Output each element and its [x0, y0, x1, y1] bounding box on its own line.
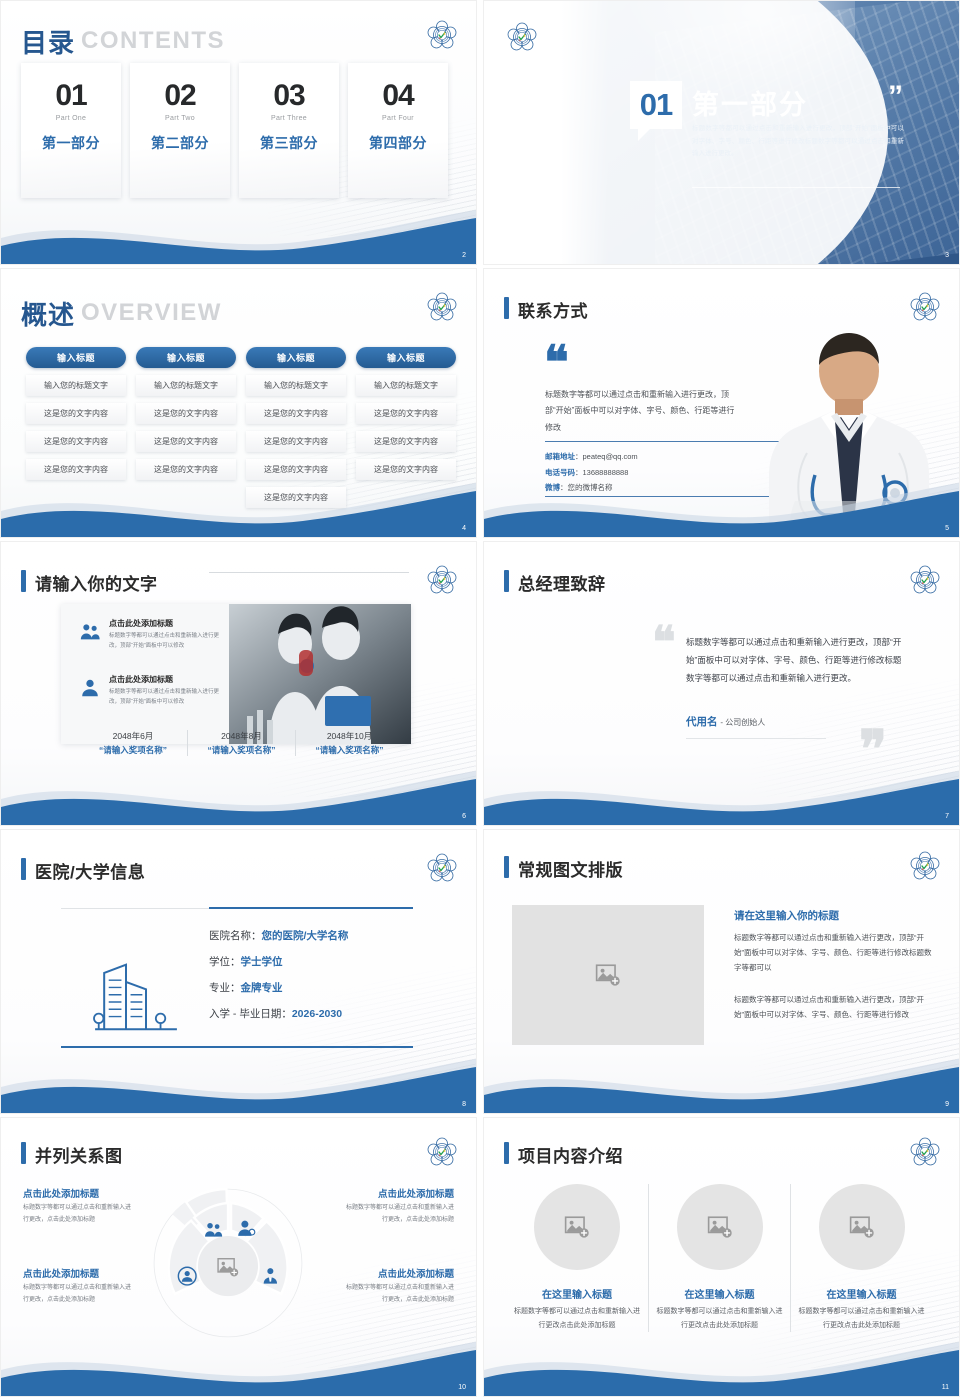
- card-number: 02: [164, 81, 195, 111]
- card-title: 第四部分: [369, 133, 427, 153]
- overview-cell[interactable]: 这是您的文字内容: [356, 459, 456, 480]
- building-illustration: [86, 942, 186, 1042]
- column-heading: 在这里输入标题: [512, 1286, 642, 1301]
- school-emblem-logo: [909, 1136, 941, 1168]
- award-name: “请输入奖项名称”: [82, 744, 184, 756]
- school-emblem-logo: [426, 564, 458, 596]
- info-value: 2026-2030: [292, 1008, 342, 1020]
- card-title: 第二部分: [151, 133, 209, 153]
- quote-open-icon: ❝: [652, 628, 676, 659]
- slide-text-with-photo[interactable]: 请输入你的文字: [0, 541, 477, 826]
- contact-label: 邮箱地址: [545, 452, 575, 461]
- card-part-label: Part One: [56, 115, 86, 122]
- speech-body-text: 标题数字等都可以通过点击和重新输入进行更改，顶部“开始”面板中可以对字体、字号、…: [686, 634, 904, 688]
- column-heading: 在这里输入标题: [655, 1286, 784, 1301]
- contents-card[interactable]: 03 Part Three 第三部分: [239, 63, 339, 198]
- info-value: 金牌专业: [241, 982, 283, 994]
- page-number: 7: [945, 813, 949, 820]
- content-paragraph: 标题数字等都可以通过点击和重新输入进行更改，顶部“开始”面板中可以对字体、字号、…: [734, 992, 934, 1022]
- info-row: 学位：学士学位: [209, 954, 348, 969]
- slide-hospital-info[interactable]: 医院/大学信息 医院名称：您的医院/大学名称 学位：学士学位 专业：金牌专业 入…: [0, 829, 477, 1114]
- award-date: 2048年8月: [191, 730, 292, 742]
- overview-cell[interactable]: 输入您的标题文字: [136, 375, 236, 396]
- contact-value: 您的微博名称: [568, 483, 613, 492]
- content-paragraph: 标题数字等都可以通过点击和重新输入进行更改，顶部“开始”面板中可以对字体、字号、…: [734, 930, 934, 975]
- school-emblem-logo: [426, 19, 458, 51]
- title-accent-bar: [21, 570, 26, 592]
- slide-image-text[interactable]: 常规图文排版 请在这里输入你的标题 标题数字等都可以通过点击和重新输入进行更改，…: [483, 829, 960, 1114]
- card-title: 第一部分: [42, 133, 100, 153]
- group-people-icon: [79, 621, 101, 643]
- contact-row-email[interactable]: 邮箱地址：peateq@qq.com: [545, 451, 638, 462]
- overview-cell[interactable]: 这是您的文字内容: [26, 459, 126, 480]
- feature-item[interactable]: 点击此处添加标题 标题数字等都可以通过点击和重新输入进行更改，顶部“开始”面板中…: [79, 674, 229, 708]
- title-accent-bar: [21, 1142, 26, 1164]
- header-rule: [209, 572, 409, 573]
- divider: [686, 738, 826, 739]
- page-number: 3: [945, 252, 949, 259]
- doctor-portrait-photo: [737, 325, 957, 537]
- page-title: 项目内容介绍: [518, 1142, 623, 1167]
- info-value: 学士学位: [241, 956, 283, 968]
- info-row: 入学 - 毕业日期：2026-2030: [209, 1006, 348, 1021]
- slide-overview[interactable]: 概述 OVERVIEW 输入标题 输入您的标题文字 这是您的文字内容 这是您的文…: [0, 268, 477, 538]
- school-emblem-logo: [426, 1136, 458, 1168]
- donut-diagram[interactable]: [151, 1186, 305, 1340]
- page-number: 6: [462, 813, 466, 820]
- column-header-pill[interactable]: 输入标题: [246, 347, 346, 368]
- award-item[interactable]: 2048年8月 “请输入奖项名称”: [187, 730, 295, 756]
- image-placeholder-icon: [564, 1215, 590, 1239]
- info-row: 专业：金牌专业: [209, 980, 348, 995]
- page-number: 8: [462, 1101, 466, 1108]
- page-title: 联系方式: [518, 297, 588, 322]
- overview-column: 输入标题 输入您的标题文字 这是您的文字内容 这是您的文字内容 这是您的文字内容: [136, 347, 236, 508]
- overview-cell[interactable]: 这是您的文字内容: [246, 487, 346, 508]
- title-accent-bar: [504, 1142, 509, 1164]
- school-emblem-logo: [909, 564, 941, 596]
- page-title: 请输入你的文字: [35, 570, 158, 595]
- project-columns: 在这里输入标题 标题数字等都可以通过点击和重新输入进行更改点击此处添加标题 在这…: [506, 1184, 932, 1332]
- contents-card[interactable]: 02 Part Two 第二部分: [130, 63, 230, 198]
- diagram-block-top-left: 点击此处添加标题 标题数字等都可以通过点击和重新输入进行更改，点击此处添加标题: [23, 1186, 131, 1226]
- signature-name: 代用名 - 公司创始人: [686, 714, 765, 729]
- card-part-label: Part Two: [165, 115, 195, 122]
- title-accent-bar: [504, 570, 509, 592]
- page-number: 4: [462, 525, 466, 532]
- image-placeholder[interactable]: [512, 905, 704, 1045]
- slide-manager-speech[interactable]: 总经理致辞 ❝ 标题数字等都可以通过点击和重新输入进行更改，顶部“开始”面板中可…: [483, 541, 960, 826]
- title-accent-bar: [21, 858, 26, 880]
- top-divider-accent: [209, 907, 413, 909]
- overview-column: 输入标题 输入您的标题文字 这是您的文字内容 这是您的文字内容 这是您的文字内容: [26, 347, 126, 508]
- page-title: 目录: [21, 23, 75, 60]
- image-placeholder[interactable]: [534, 1184, 620, 1270]
- slide-deck-grid: 目录 CONTENTS 01 Part One 第一部分 02 Part Two…: [0, 0, 960, 1400]
- contact-value: peateq@qq.com: [583, 452, 638, 461]
- school-emblem-logo: [506, 21, 538, 53]
- page-number: 5: [945, 525, 949, 532]
- page-title: 并列关系图: [35, 1142, 123, 1167]
- contact-list: 邮箱地址：peateq@qq.com 电话号码：13688888888 微博：您…: [545, 451, 638, 498]
- divider: [692, 187, 900, 188]
- feature-heading: 点击此处添加标题: [109, 618, 229, 629]
- overview-cell[interactable]: 这是您的文字内容: [246, 403, 346, 424]
- award-name: “请输入奖项名称”: [191, 744, 292, 756]
- page-title: 总经理致辞: [518, 570, 606, 595]
- overview-cell[interactable]: 这是您的文字内容: [136, 403, 236, 424]
- award-date: 2048年10月: [299, 730, 400, 742]
- image-placeholder-icon: [849, 1215, 875, 1239]
- page-title-en: OVERVIEW: [81, 299, 222, 327]
- contact-row-weibo[interactable]: 微博：您的微博名称: [545, 482, 638, 493]
- block-body: 标题数字等都可以通过点击和重新输入进行更改，点击此处添加标题: [23, 1283, 131, 1306]
- image-placeholder-icon: [595, 963, 621, 987]
- overview-columns: 输入标题 输入您的标题文字 这是您的文字内容 这是您的文字内容 这是您的文字内容…: [26, 347, 456, 508]
- award-item[interactable]: 2048年6月 “请输入奖项名称”: [79, 730, 187, 756]
- award-date: 2048年6月: [82, 730, 184, 742]
- contents-card-row: 01 Part One 第一部分 02 Part Two 第二部分 03 Par…: [21, 63, 448, 198]
- signature-name-text: 代用名: [686, 716, 718, 728]
- title-accent-bar: [504, 856, 509, 878]
- content-headline: 请在这里输入你的标题: [734, 908, 839, 923]
- block-heading: 点击此处添加标题: [23, 1186, 131, 1200]
- page-number: 10: [458, 1384, 466, 1391]
- section-number-badge: 01: [630, 81, 682, 129]
- column-header-pill[interactable]: 输入标题: [26, 347, 126, 368]
- slide-contact[interactable]: 联系方式 ❝ 标题数字等都可以通过点击和重新输入进行更改，顶部“开始”面板中可以…: [483, 268, 960, 538]
- page-title: 常规图文排版: [518, 856, 623, 881]
- page-number: 11: [942, 1384, 949, 1391]
- image-placeholder-icon: [707, 1215, 733, 1239]
- overview-cell[interactable]: 这是您的文字内容: [356, 403, 456, 424]
- overview-cell[interactable]: 这是您的文字内容: [246, 431, 346, 452]
- block-body: 标题数字等都可以通过点击和重新输入进行更改，点击此处添加标题: [346, 1203, 454, 1226]
- overview-cell[interactable]: 这是您的文字内容: [246, 459, 346, 480]
- award-item[interactable]: 2048年10月 “请输入奖项名称”: [295, 730, 403, 756]
- overview-cell[interactable]: 输入您的标题文字: [26, 375, 126, 396]
- contents-card[interactable]: 01 Part One 第一部分: [21, 63, 121, 198]
- overview-cell[interactable]: 这是您的文字内容: [136, 431, 236, 452]
- page-number: 9: [945, 1101, 949, 1108]
- school-emblem-logo: [426, 291, 458, 323]
- card-number: 04: [382, 81, 413, 111]
- info-label: 专业：: [209, 982, 241, 994]
- quote-mark-icon: ”: [888, 85, 903, 109]
- info-value: 您的医院/大学名称: [262, 930, 349, 942]
- contact-value: 13688888888: [583, 468, 629, 477]
- page-number: 2: [462, 252, 466, 259]
- feature-item[interactable]: 点击此处添加标题 标题数字等都可以通过点击和重新输入进行更改，顶部“开始”面板中…: [79, 618, 229, 652]
- overview-column: 输入标题 输入您的标题文字 这是您的文字内容 这是您的文字内容 这是您的文字内容…: [246, 347, 346, 508]
- page-title-en: CONTENTS: [81, 27, 225, 55]
- card-title: 第三部分: [260, 133, 318, 153]
- overview-cell[interactable]: 这是您的文字内容: [26, 403, 126, 424]
- contact-label: 微博: [545, 483, 560, 492]
- card-number: 03: [273, 81, 304, 111]
- award-name: “请输入奖项名称”: [299, 744, 400, 756]
- feature-body: 标题数字等都可以通过点击和重新输入进行更改，顶部“开始”面板中可以修改: [109, 687, 229, 708]
- content-panel: 点击此处添加标题 标题数字等都可以通过点击和重新输入进行更改，顶部“开始”面板中…: [61, 604, 411, 744]
- card-part-label: Part Four: [382, 115, 414, 122]
- info-rows: 医院名称：您的医院/大学名称 学位：学士学位 专业：金牌专业 入学 - 毕业日期…: [209, 928, 348, 1032]
- block-heading: 点击此处添加标题: [346, 1266, 454, 1280]
- column-body: 标题数字等都可以通过点击和重新输入进行更改点击此处添加标题: [655, 1305, 784, 1332]
- school-emblem-logo: [909, 291, 941, 323]
- signature-role: - 公司创始人: [720, 718, 765, 727]
- diagram-block-bottom-right: 点击此处添加标题 标题数字等都可以通过点击和重新输入进行更改，点击此处添加标题: [346, 1266, 454, 1306]
- project-column[interactable]: 在这里输入标题 标题数字等都可以通过点击和重新输入进行更改点击此处添加标题: [648, 1184, 790, 1332]
- contents-card[interactable]: 04 Part Four 第四部分: [348, 63, 448, 198]
- single-person-icon: [79, 677, 101, 699]
- card-number: 01: [55, 81, 86, 111]
- section-number: 01: [640, 87, 672, 123]
- awards-row: 2048年6月 “请输入奖项名称” 2048年8月 “请输入奖项名称” 2048…: [79, 730, 403, 756]
- feature-heading: 点击此处添加标题: [109, 674, 229, 685]
- school-emblem-logo: [426, 852, 458, 884]
- diagram-block-top-right: 点击此处添加标题 标题数字等都可以通过点击和重新输入进行更改，点击此处添加标题: [346, 1186, 454, 1226]
- column-header-pill[interactable]: 输入标题: [356, 347, 456, 368]
- project-column[interactable]: 在这里输入标题 标题数字等都可以通过点击和重新输入进行更改点击此处添加标题: [506, 1184, 648, 1332]
- overview-cell[interactable]: 输入您的标题文字: [356, 375, 456, 396]
- slide-project-content[interactable]: 项目内容介绍 在这里输入标题 标题数字等都可以通过点击和重新输入进行更改点击此处…: [483, 1117, 960, 1397]
- block-heading: 点击此处添加标题: [346, 1186, 454, 1200]
- project-column[interactable]: 在这里输入标题 标题数字等都可以通过点击和重新输入进行更改点击此处添加标题: [790, 1184, 932, 1332]
- info-label: 医院名称：: [209, 930, 262, 942]
- page-title: 医院/大学信息: [35, 858, 145, 883]
- bottom-divider: [61, 1046, 413, 1048]
- quote-close-icon: ❞: [859, 733, 887, 769]
- slide-contents[interactable]: 目录 CONTENTS 01 Part One 第一部分 02 Part Two…: [0, 0, 477, 265]
- info-label: 学位：: [209, 956, 241, 968]
- column-header-pill[interactable]: 输入标题: [136, 347, 236, 368]
- image-placeholder[interactable]: [677, 1184, 763, 1270]
- image-placeholder[interactable]: [819, 1184, 905, 1270]
- info-row: 医院名称：您的医院/大学名称: [209, 928, 348, 943]
- block-heading: 点击此处添加标题: [23, 1266, 131, 1280]
- contact-body-text: 标题数字等都可以通过点击和重新输入进行更改，顶部“开始”面板中可以对字体、字号、…: [545, 387, 742, 436]
- overview-cell[interactable]: 这是您的文字内容: [26, 431, 126, 452]
- title-accent-bar: [504, 297, 509, 319]
- contact-row-phone[interactable]: 电话号码：13688888888: [545, 467, 638, 478]
- card-part-label: Part Three: [271, 115, 307, 122]
- school-emblem-logo: [909, 850, 941, 882]
- overview-cell[interactable]: 这是您的文字内容: [136, 459, 236, 480]
- column-heading: 在这里输入标题: [797, 1286, 926, 1301]
- slide-section-cover[interactable]: 01 第一部分 ” 标题数字等都可以通过点击和重新输入进行更改，顶部“开始”面板…: [483, 0, 960, 265]
- overview-cell[interactable]: 输入您的标题文字: [246, 375, 346, 396]
- lab-researchers-photo: [229, 604, 411, 744]
- column-body: 标题数字等都可以通过点击和重新输入进行更改点击此处添加标题: [512, 1305, 642, 1332]
- page-title: 概述: [21, 295, 75, 332]
- overview-column: 输入标题 输入您的标题文字 这是您的文字内容 这是您的文字内容 这是您的文字内容: [356, 347, 456, 508]
- diagram-block-bottom-left: 点击此处添加标题 标题数字等都可以通过点击和重新输入进行更改，点击此处添加标题: [23, 1266, 131, 1306]
- section-heading: 第一部分: [692, 83, 808, 122]
- column-body: 标题数字等都可以通过点击和重新输入进行更改点击此处添加标题: [797, 1305, 926, 1332]
- contact-label: 电话号码: [545, 468, 575, 477]
- info-label: 入学 - 毕业日期：: [209, 1008, 292, 1020]
- block-body: 标题数字等都可以通过点击和重新输入进行更改，点击此处添加标题: [346, 1283, 454, 1306]
- overview-cell[interactable]: 这是您的文字内容: [356, 431, 456, 452]
- section-body-text: 标题数字等都可以通过点击和重新输入进行更改，顶部“开始”面板中可以对字体、字号、…: [692, 123, 904, 161]
- quote-mark-icon: ❝: [544, 347, 569, 379]
- block-body: 标题数字等都可以通过点击和重新输入进行更改，点击此处添加标题: [23, 1203, 131, 1226]
- slide-parallel-diagram[interactable]: 并列关系图: [0, 1117, 477, 1397]
- feature-body: 标题数字等都可以通过点击和重新输入进行更改，顶部“开始”面板中可以修改: [109, 631, 229, 652]
